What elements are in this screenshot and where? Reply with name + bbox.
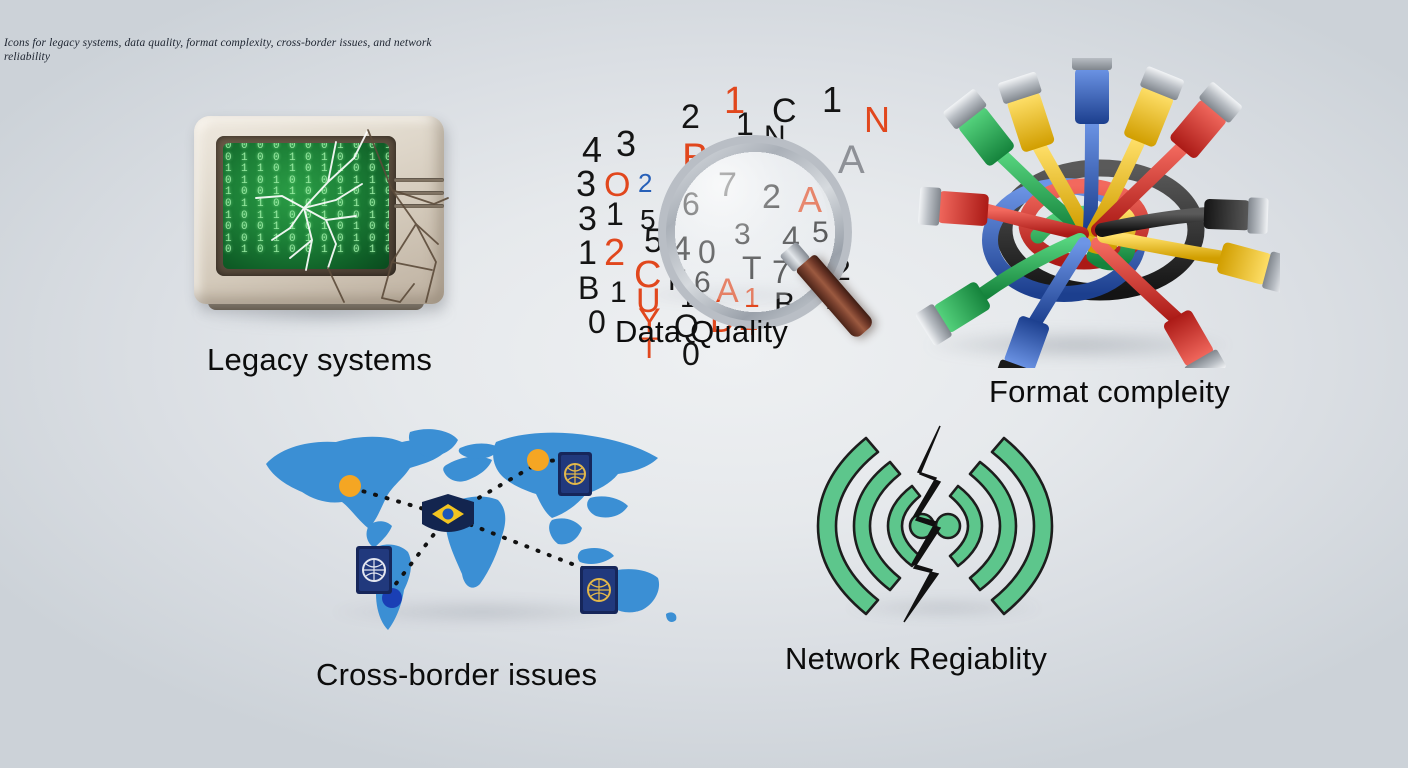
- data-char: B: [578, 272, 599, 304]
- asia-passport: [558, 452, 592, 496]
- data-char: 3: [576, 166, 596, 202]
- north-america-dot: [339, 475, 361, 497]
- cables-svg: [888, 58, 1280, 368]
- cross-border-issues-icon: [252, 424, 682, 636]
- data-char: 1: [610, 278, 627, 308]
- data-quality-icon: 43211C1N3O2BNA315672A12540345BCF6T7621U1…: [576, 60, 876, 300]
- europe-dot: [527, 449, 549, 471]
- broken-signal-svg: [808, 424, 1062, 624]
- data-char: N: [864, 102, 890, 138]
- data-char: 1: [822, 82, 842, 118]
- world-map-svg: [252, 424, 682, 636]
- data-char: 1: [606, 198, 624, 230]
- south-america-passport: [356, 546, 392, 594]
- label-format-complexity: Format compleity: [989, 374, 1230, 410]
- data-char: 3: [578, 202, 597, 236]
- format-complexity-icon: [888, 58, 1280, 368]
- data-char: 0: [588, 306, 606, 338]
- label-legacy-systems: Legacy systems: [207, 342, 432, 378]
- label-data-quality: Data Quality: [615, 314, 788, 350]
- binary-code-text: 0 0 0 0 0 0 0 1 0 0 1 0 1 0 0 1 0 1 0 0 …: [225, 143, 389, 257]
- data-char: 2: [638, 170, 652, 196]
- label-network-reliability: Network Regiablity: [785, 641, 1047, 677]
- label-cross-border-issues: Cross-border issues: [316, 657, 597, 693]
- caption-text: Icons for legacy systems, data quality, …: [4, 36, 434, 64]
- illustration-canvas: Icons for legacy systems, data quality, …: [0, 0, 1408, 768]
- oceania-passport: [580, 566, 618, 614]
- data-char: A: [838, 140, 865, 180]
- data-char: 3: [616, 126, 636, 162]
- africa-hub-shield: [422, 494, 474, 532]
- crt-bezel: 0 0 0 0 0 0 0 1 0 0 1 0 1 0 0 1 0 1 0 0 …: [216, 136, 396, 276]
- crt-screen: 0 0 0 0 0 0 0 1 0 0 1 0 1 0 0 1 0 1 0 0 …: [223, 143, 389, 269]
- data-char: 1: [578, 236, 597, 270]
- data-char: 2: [604, 234, 625, 272]
- legacy-systems-icon: 0 0 0 0 0 0 0 1 0 0 1 0 1 0 0 1 0 1 0 0 …: [186, 112, 458, 314]
- network-reliability-icon: [808, 424, 1062, 624]
- crt-vents: [394, 178, 444, 217]
- data-char: 2: [681, 100, 700, 134]
